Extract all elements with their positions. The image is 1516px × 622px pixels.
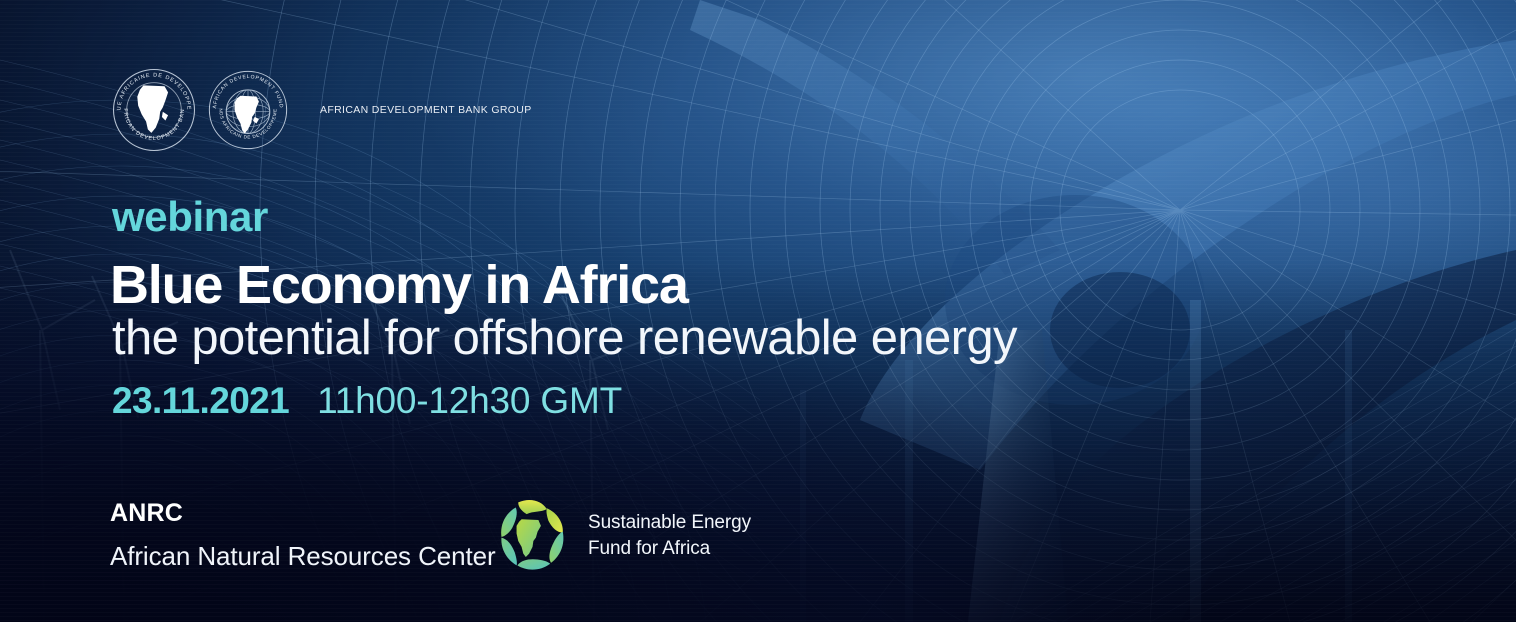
event-time: 11h00-12h30 GMT <box>317 382 622 419</box>
event-schedule: 23.11.2021 11h00-12h30 GMT <box>112 382 622 419</box>
webinar-banner: BANQUE AFRICAINE DE DEVELOPPEMENT AFRICA… <box>0 0 1516 622</box>
afdb-seal-icon: BANQUE AFRICAINE DE DEVELOPPEMENT AFRICA… <box>110 66 198 154</box>
sefa-name-line1: Sustainable Energy <box>588 510 751 536</box>
sefa-name: Sustainable Energy Fund for Africa <box>588 510 751 561</box>
adf-globe-seal-icon: AFRICAN DEVELOPMENT FUND FONDS AFRICAIN … <box>206 68 290 152</box>
anrc-block: ANRC African Natural Resources Center <box>110 500 488 570</box>
eyebrow-label: webinar <box>112 196 268 238</box>
sefa-lockup: Sustainable Energy Fund for Africa <box>488 494 751 578</box>
sefa-name-line2: Fund for Africa <box>588 536 751 562</box>
anrc-abbreviation: ANRC <box>110 500 488 528</box>
anrc-full-name: African Natural Resources Center <box>110 542 488 571</box>
event-date: 23.11.2021 <box>112 382 289 419</box>
afdb-logo-lockup: BANQUE AFRICAINE DE DEVELOPPEMENT AFRICA… <box>110 66 532 154</box>
afdb-wordmark: AFRICAN DEVELOPMENT BANK GROUP <box>320 104 532 116</box>
page-subtitle: the potential for offshore renewable ene… <box>112 314 1017 363</box>
sefa-swirl-logo-icon <box>488 494 572 578</box>
banner-content: BANQUE AFRICAINE DE DEVELOPPEMENT AFRICA… <box>0 0 1516 622</box>
footer-logos: ANRC African Natural Resources Center <box>110 500 751 578</box>
page-title: Blue Economy in Africa <box>110 258 688 312</box>
